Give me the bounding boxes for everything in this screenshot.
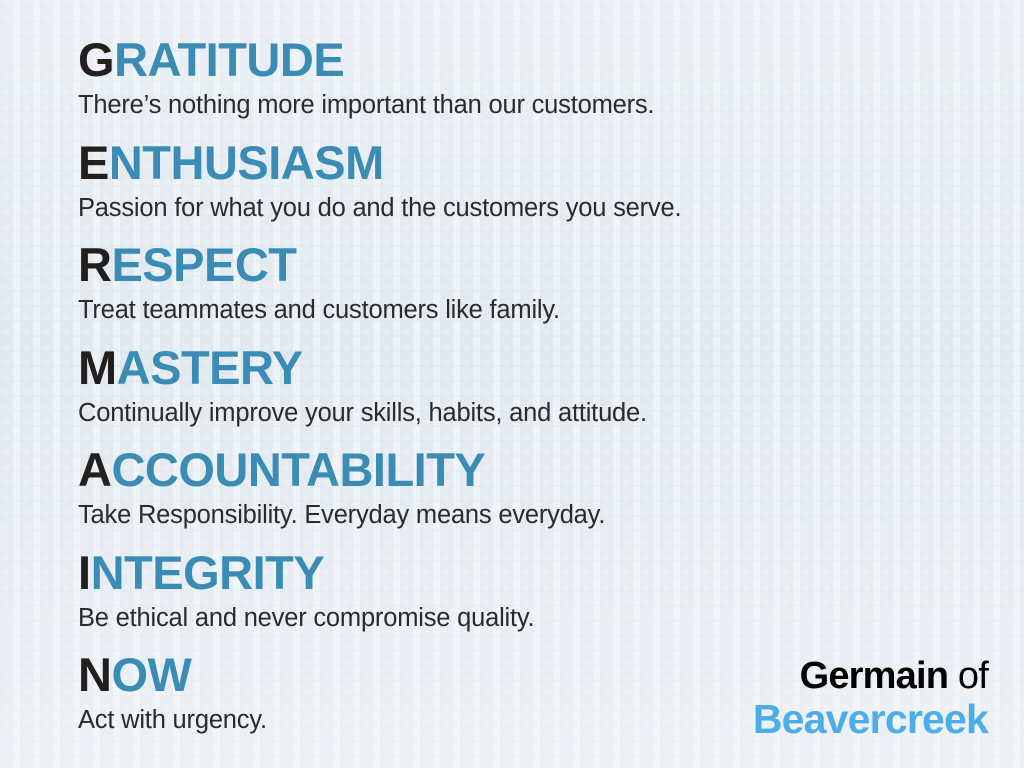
logo-connector-word: of — [948, 655, 988, 697]
logo-brand-name: Germain — [800, 655, 949, 697]
value-heading-mastery: MASTERY — [78, 344, 1024, 392]
value-description-enthusiasm: Passion for what you do and the customer… — [78, 192, 1024, 225]
value-initial-letter: G — [78, 33, 114, 86]
value-description-respect: Treat teammates and customers like famil… — [78, 294, 1024, 327]
value-description-mastery: Continually improve your skills, habits,… — [78, 397, 1024, 430]
value-heading-respect: RESPECT — [78, 241, 1024, 289]
value-description-gratitude: There’s nothing more important than our … — [78, 89, 1024, 122]
value-heading-gratitude: GRATITUDE — [78, 36, 1024, 84]
value-heading-integrity: INTEGRITY — [78, 549, 1024, 597]
value-block-enthusiasm: ENTHUSIASM Passion for what you do and t… — [78, 139, 1024, 225]
value-block-mastery: MASTERY Continually improve your skills,… — [78, 344, 1024, 430]
value-initial-letter: M — [78, 341, 117, 394]
value-initial-letter: I — [78, 546, 91, 599]
value-initial-letter: A — [78, 443, 111, 496]
logo-line-primary: Germain of — [753, 657, 988, 695]
value-initial-letter: R — [78, 238, 111, 291]
value-description-integrity: Be ethical and never compromise quality. — [78, 602, 1024, 635]
value-block-accountability: ACCOUNTABILITY Take Responsibility. Ever… — [78, 446, 1024, 532]
value-heading-rest: ESPECT — [111, 238, 296, 291]
value-heading-enthusiasm: ENTHUSIASM — [78, 139, 1024, 187]
logo-location-name: Beavercreek — [753, 699, 988, 740]
value-heading-rest: RATITUDE — [114, 33, 344, 86]
value-heading-rest: NTEGRITY — [91, 546, 325, 599]
value-initial-letter: N — [78, 648, 111, 701]
value-heading-accountability: ACCOUNTABILITY — [78, 446, 1024, 494]
value-heading-rest: OW — [111, 648, 191, 701]
value-heading-rest: CCOUNTABILITY — [111, 443, 485, 496]
value-heading-rest: ASTERY — [117, 341, 303, 394]
value-heading-rest: NTHUSIASM — [109, 136, 384, 189]
value-description-accountability: Take Responsibility. Everyday means ever… — [78, 499, 1024, 532]
value-block-integrity: INTEGRITY Be ethical and never compromis… — [78, 549, 1024, 635]
dealership-logo: Germain of Beavercreek — [753, 657, 988, 740]
value-initial-letter: E — [78, 136, 109, 189]
value-block-gratitude: GRATITUDE There’s nothing more important… — [78, 36, 1024, 122]
values-list: GRATITUDE There’s nothing more important… — [0, 0, 1024, 768]
value-block-respect: RESPECT Treat teammates and customers li… — [78, 241, 1024, 327]
